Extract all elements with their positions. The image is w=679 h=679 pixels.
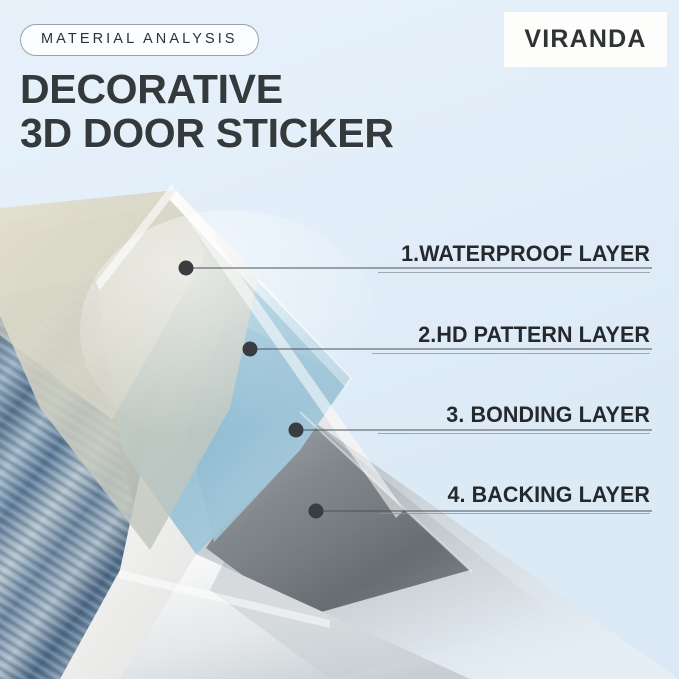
callout-label-4-text: 4. BACKING LAYER xyxy=(392,484,650,507)
page-title: DECORATIVE 3D DOOR STICKER xyxy=(20,68,394,156)
callout-dot-1 xyxy=(179,261,194,276)
film-specular-glow xyxy=(80,210,380,450)
brand-logo-label: VIRANDA xyxy=(524,25,646,54)
callout-rule-4 xyxy=(380,513,650,514)
eyebrow-badge: MATERIAL ANALYSIS xyxy=(20,24,259,56)
callout-dot-3 xyxy=(289,423,304,438)
callout-rule-2 xyxy=(372,353,650,354)
poster-canvas: MATERIAL ANALYSIS DECORATIVE 3D DOOR STI… xyxy=(0,0,679,679)
callout-label-1: 1.WATERPROOF LAYER xyxy=(378,243,650,273)
callout-label-3-text: 3. BONDING LAYER xyxy=(390,404,650,427)
callout-label-2: 2.HD PATTERN LAYER xyxy=(372,324,650,354)
callout-rule-1 xyxy=(378,272,650,273)
callout-label-2-text: 2.HD PATTERN LAYER xyxy=(385,324,650,347)
callout-label-3: 3. BONDING LAYER xyxy=(378,404,650,434)
page-title-line-1: DECORATIVE xyxy=(20,66,283,112)
brand-logo: VIRANDA xyxy=(504,12,667,67)
callout-dot-4 xyxy=(309,504,324,519)
callout-label-4: 4. BACKING LAYER xyxy=(380,484,650,514)
callout-dot-2 xyxy=(243,342,258,357)
callout-rule-3 xyxy=(378,433,650,434)
callout-label-1-text: 1.WATERPROOF LAYER xyxy=(390,243,650,266)
